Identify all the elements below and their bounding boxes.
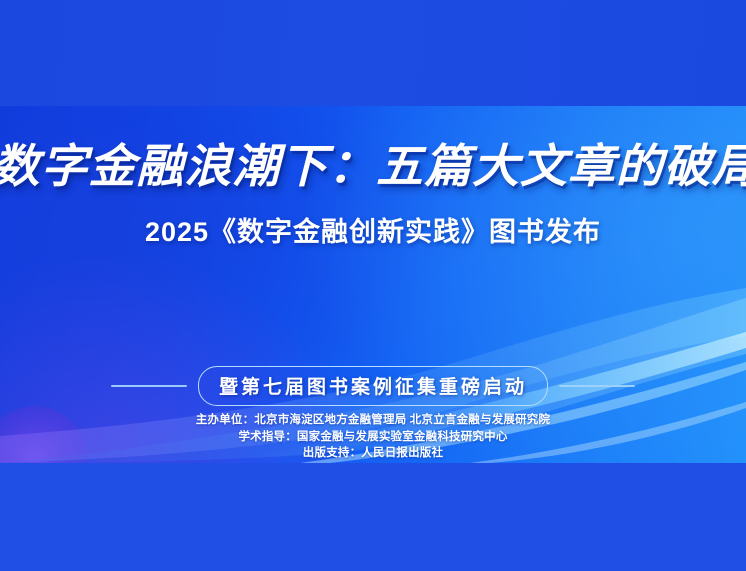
highlight-pill: 暨第七届图书案例征集重磅启动: [198, 366, 548, 406]
organizer-line: 出版支持：人民日报出版社: [0, 445, 746, 462]
organizer-block: 主办单位：北京市海淀区地方金融管理局 北京立言金融与发展研究院 学术指导：国家金…: [0, 412, 746, 463]
bottom-background-band: [0, 463, 746, 571]
top-background-band: [0, 0, 746, 106]
poster-banner: 数字金融浪潮下：五篇大文章的破局与重构 2025《数字金融创新实践》图书发布 暨…: [0, 106, 746, 463]
organizer-line: 学术指导：国家金融与发展实验室金融科技研究中心: [0, 429, 746, 446]
rule-right-icon: [559, 385, 635, 387]
organizer-line: 主办单位：北京市海淀区地方金融管理局 北京立言金融与发展研究院: [0, 412, 746, 429]
rule-left-icon: [111, 385, 187, 387]
poster-content: 数字金融浪潮下：五篇大文章的破局与重构 2025《数字金融创新实践》图书发布 暨…: [0, 106, 746, 463]
poster-main-title: 数字金融浪潮下：五篇大文章的破局与重构: [0, 130, 746, 196]
poster-sub-title: 2025《数字金融创新实践》图书发布: [0, 210, 746, 249]
poster-screen: 数字金融浪潮下：五篇大文章的破局与重构 2025《数字金融创新实践》图书发布 暨…: [0, 0, 746, 571]
highlight-row: 暨第七届图书案例征集重磅启动: [0, 366, 746, 406]
